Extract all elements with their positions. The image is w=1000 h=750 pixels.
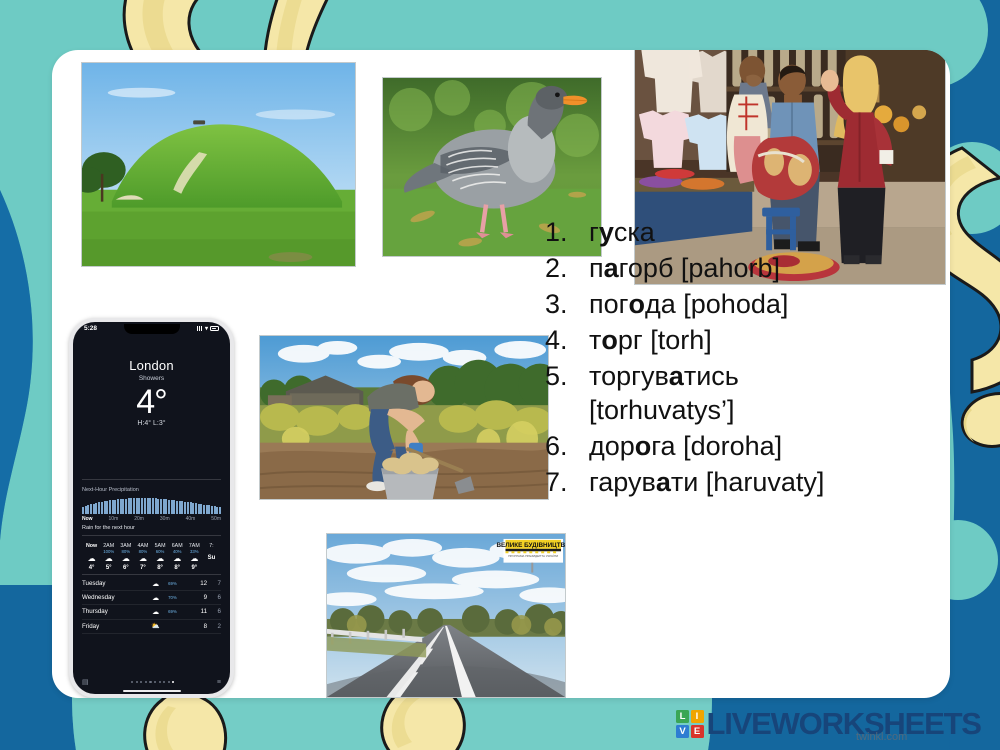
hourly-forecast-cell[interactable]: 4AM80%☁7°: [134, 543, 151, 571]
precip-bar: [157, 499, 159, 514]
hour-temp: 8°: [169, 565, 186, 571]
precip-bar: [216, 507, 218, 514]
liveworksheets-logo[interactable]: LIVE LIVEWORKSHEETS: [676, 706, 981, 742]
vocabulary-item-number: 7.: [545, 465, 589, 499]
logo-letter-tiles: LIVE: [676, 710, 704, 738]
weather-city: London: [73, 358, 230, 373]
logo-tile-e: E: [691, 725, 704, 738]
precip-bar: [141, 498, 143, 514]
stressed-vowel: у: [599, 217, 614, 247]
map-icon[interactable]: ▤: [82, 678, 89, 686]
stressed-vowel: о: [601, 325, 618, 355]
day-precip-chance: 70%: [168, 595, 187, 600]
hour-temp: 5°: [100, 565, 117, 571]
precip-bar: [200, 504, 202, 514]
weather-temperature: 4°: [73, 383, 230, 422]
vocabulary-list: 1.гуска2.пагорб [pahorb]3.погода [pohoda…: [545, 215, 890, 501]
day-low: 6: [207, 608, 221, 615]
precip-bar: [176, 501, 178, 514]
stressed-vowel: о: [629, 289, 646, 319]
hourly-forecast-cell[interactable]: 3AM80%☁6°: [117, 543, 134, 571]
logo-tile-v: V: [676, 725, 689, 738]
logo-tile-l: L: [676, 710, 689, 723]
hourly-forecast-panel[interactable]: Now☁4°2AM100%☁5°3AM80%☁6°4AM80%☁7°5AM60%…: [82, 535, 221, 574]
day-high: 9: [188, 594, 207, 601]
hourly-forecast-cell[interactable]: Now☁4°: [83, 543, 100, 571]
vocabulary-item-text: гарувати [haruvaty]: [589, 465, 890, 499]
vocabulary-item-number: 4.: [545, 323, 589, 357]
svg-text:ВЕЛИКЕ БУДІВНИЦТВО: ВЕЛИКЕ БУДІВНИЦТВО: [496, 542, 565, 549]
day-low: 6: [207, 594, 221, 601]
precipitation-note: Rain for the next hour: [82, 525, 221, 535]
precip-bar: [109, 500, 111, 514]
precip-bar: [120, 499, 122, 514]
precip-bar: [155, 498, 157, 514]
precip-bar: [144, 498, 146, 514]
page-dot[interactable]: [154, 681, 156, 683]
day-high: 8: [188, 623, 207, 630]
twinkl-watermark: twinkl.com: [856, 731, 907, 743]
day-label: Friday: [82, 623, 143, 630]
page-dot[interactable]: [172, 681, 174, 683]
vocabulary-item: 6.дорога [doroha]: [545, 429, 890, 463]
precip-bar: [136, 498, 138, 514]
day-precip-chance: 69%: [168, 581, 187, 586]
precip-bar: [152, 498, 154, 514]
vocabulary-item-text: торгуватись [torhuvatys’]: [589, 359, 890, 427]
vocabulary-item-number: 2.: [545, 251, 589, 285]
page-dot[interactable]: [159, 681, 161, 683]
precip-bar: [165, 499, 167, 514]
daily-forecast-row[interactable]: Thursday☁69%116: [82, 605, 221, 619]
precip-bar: [187, 502, 189, 514]
photo-highway-road: ВЕЛИКЕ БУДІВНИЦТВО ПРОГРАМА ПРЕЗИДЕНТА У…: [326, 533, 566, 698]
precip-bar: [85, 506, 87, 514]
precip-bar: [138, 498, 140, 514]
page-dot[interactable]: [136, 681, 138, 683]
precip-tick: Now: [82, 516, 93, 522]
precip-bar: [117, 499, 119, 514]
vocabulary-item-number: 6.: [545, 429, 589, 463]
weather-high-low: H:4° L:3°: [73, 420, 230, 427]
precip-bar: [168, 500, 170, 514]
rain-cloud-icon: ☁: [143, 580, 168, 588]
hour-temp: 4°: [83, 565, 100, 571]
day-label: Thursday: [82, 608, 143, 615]
precip-bar: [173, 500, 175, 514]
hourly-forecast-cell[interactable]: 6AM40%☁8°: [169, 543, 186, 571]
vocabulary-item: 2.пагорб [pahorb]: [545, 251, 890, 285]
stressed-vowel: а: [656, 467, 671, 497]
phone-weather-mockup: 5:28 ▾ London Showers 4° H:4° L:3°: [69, 318, 234, 698]
precip-bar: [93, 504, 95, 514]
precip-bar: [82, 507, 84, 514]
precip-bar: [95, 503, 97, 514]
precipitation-graph: [82, 498, 221, 514]
photo-grassy-hill: [81, 62, 356, 267]
day-high: 12: [188, 580, 207, 587]
vocabulary-item: 3.погода [pohoda]: [545, 287, 890, 321]
precipitation-panel: Next-Hour Precipitation Now10m20m30m40m5…: [82, 479, 221, 535]
precip-bar: [87, 505, 89, 514]
precip-bar: [122, 499, 124, 514]
rain-cloud-icon: ☁: [134, 554, 151, 564]
precip-bar: [98, 502, 100, 514]
hour-temp: 8°: [152, 565, 169, 571]
precip-bar: [149, 498, 151, 514]
daily-forecast-list[interactable]: Tuesday☁69%127Wednesday☁70%96Thursday☁69…: [82, 574, 221, 634]
precip-bar: [206, 505, 208, 514]
worksheet-page: ВЕЛИКЕ БУДІВНИЦТВО ПРОГРАМА ПРЕЗИДЕНТА У…: [0, 0, 1000, 750]
precip-bar: [101, 502, 103, 514]
precip-bar: [112, 500, 114, 514]
rain-cloud-icon: ☁: [169, 554, 186, 564]
precip-tick: 30m: [160, 516, 170, 522]
home-indicator: [123, 690, 181, 693]
precip-bar: [114, 500, 116, 514]
hour-temp: 7°: [134, 565, 151, 571]
day-low: 2: [207, 623, 221, 630]
precipitation-title: Next-Hour Precipitation: [82, 487, 221, 493]
vocabulary-item-text: пагорб [pahorb]: [589, 251, 890, 285]
battery-icon: [210, 326, 219, 331]
precip-bar: [147, 498, 149, 514]
sun-cloud-icon: ⛅: [143, 622, 168, 630]
vocabulary-item: 7.гарувати [haruvaty]: [545, 465, 890, 499]
wifi-icon: ▾: [205, 325, 208, 332]
phone-body: 5:28 ▾ London Showers 4° H:4° L:3°: [69, 318, 234, 698]
rain-cloud-icon: ☁: [83, 554, 100, 564]
precip-bar: [130, 498, 132, 514]
hourly-forecast-row[interactable]: Now☁4°2AM100%☁5°3AM80%☁6°4AM80%☁7°5AM60%…: [82, 539, 221, 574]
day-label: Wednesday: [82, 594, 143, 601]
day-low: 7: [207, 580, 221, 587]
precipitation-ticks: Now10m20m30m40m50m: [82, 516, 221, 522]
weather-condition: Showers: [73, 375, 230, 382]
precip-bar: [160, 499, 162, 514]
precip-bar: [203, 505, 205, 514]
day-high: 11: [188, 608, 207, 615]
status-time: 5:28: [84, 325, 97, 332]
precip-bar: [133, 498, 135, 514]
weather-current: London Showers 4° H:4° L:3°: [73, 322, 230, 427]
precip-bar: [190, 502, 192, 514]
precip-bar: [214, 506, 216, 514]
daily-forecast-row[interactable]: Friday⛅82: [82, 620, 221, 634]
stressed-vowel: а: [669, 361, 684, 391]
precip-bar: [179, 501, 181, 514]
precip-bar: [163, 499, 165, 514]
vocabulary-item-text: дорога [doroha]: [589, 429, 890, 463]
page-dots[interactable]: [131, 681, 174, 683]
page-dot[interactable]: [149, 681, 151, 683]
page-dot[interactable]: [168, 681, 170, 683]
precip-bar: [219, 507, 221, 514]
vocabulary-item: 4.торг [torh]: [545, 323, 890, 357]
page-dot[interactable]: [163, 681, 165, 683]
hour-temp: 9°: [186, 565, 203, 571]
rain-cloud-icon: ☁: [186, 554, 203, 564]
rain-cloud-icon: ☁: [143, 594, 168, 602]
hour-temp: 6°: [117, 565, 134, 571]
vocabulary-item-number: 1.: [545, 215, 589, 249]
precip-bar: [198, 504, 200, 514]
logo-tile-i: I: [691, 710, 704, 723]
precip-bar: [128, 498, 130, 514]
precip-tick: 40m: [186, 516, 196, 522]
page-dot[interactable]: [131, 681, 133, 683]
day-label: Tuesday: [82, 580, 143, 587]
precip-bar: [90, 504, 92, 514]
precip-tick: 50m: [211, 516, 221, 522]
precip-tick: 10m: [109, 516, 119, 522]
day-precip-chance: 69%: [168, 609, 187, 614]
rain-cloud-icon: ☁: [143, 608, 168, 616]
hourly-forecast-cell[interactable]: 5AM60%☁8°: [152, 543, 169, 571]
phone-screen: 5:28 ▾ London Showers 4° H:4° L:3°: [73, 322, 230, 694]
rain-cloud-icon: ☁: [152, 554, 169, 564]
phone-status-bar: 5:28 ▾: [73, 325, 230, 332]
rain-cloud-icon: ☁: [100, 554, 117, 564]
list-icon[interactable]: ≡: [217, 679, 221, 686]
vocabulary-item-text: торг [torh]: [589, 323, 890, 357]
hourly-forecast-cell[interactable]: 2AM100%☁5°: [100, 543, 117, 571]
precip-bar: [106, 501, 108, 514]
precip-bar: [184, 502, 186, 514]
hourly-forecast-cell[interactable]: 7AM33%☁9°: [186, 543, 203, 571]
svg-text:ПРОГРАМА ПРЕЗИДЕНТА УКРАЇНИ: ПРОГРАМА ПРЕЗИДЕНТА УКРАЇНИ: [508, 554, 558, 558]
precip-tick: 20m: [134, 516, 144, 522]
page-dot[interactable]: [145, 681, 147, 683]
hourly-forecast-cell[interactable]: 7:Su: [203, 543, 220, 571]
precip-bar: [171, 500, 173, 514]
daily-forecast-row[interactable]: Tuesday☁69%127: [82, 577, 221, 591]
rain-cloud-icon: ☁: [117, 554, 134, 564]
precip-bar: [104, 501, 106, 514]
precip-bar: [208, 505, 210, 514]
hour-temp: Su: [203, 555, 220, 561]
vocabulary-item-number: 3.: [545, 287, 589, 321]
page-dot[interactable]: [140, 681, 142, 683]
precip-bar: [195, 503, 197, 514]
precip-bar: [181, 501, 183, 514]
precip-bar: [192, 503, 194, 514]
precip-bar: [211, 506, 213, 514]
vocabulary-item-text: гуска: [589, 215, 890, 249]
stressed-vowel: о: [635, 431, 652, 461]
daily-forecast-row[interactable]: Wednesday☁70%96: [82, 591, 221, 605]
hour-precip-chance: [203, 549, 220, 554]
logo-wordmark: LIVEWORKSHEETS: [707, 706, 981, 742]
vocabulary-item: 1.гуска: [545, 215, 890, 249]
vocabulary-item-text: погода [pohoda]: [589, 287, 890, 321]
vocabulary-item-number: 5.: [545, 359, 589, 393]
signal-icon: [197, 326, 203, 331]
vocabulary-item: 5.торгуватись [torhuvatys’]: [545, 359, 890, 427]
phone-footer-bar[interactable]: ▤ ≡: [73, 678, 230, 686]
photo-woman-digging-potatoes: [259, 335, 549, 500]
precip-bar: [125, 499, 127, 515]
stressed-vowel: а: [604, 253, 619, 283]
